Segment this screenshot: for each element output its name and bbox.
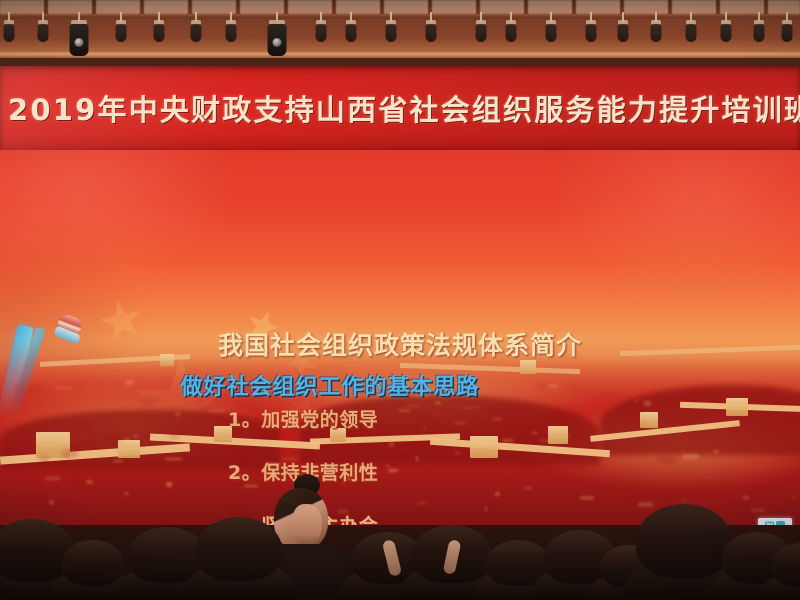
terrain-shape bbox=[170, 434, 179, 437]
terrain-shape bbox=[649, 464, 655, 467]
terrain-shape bbox=[86, 480, 92, 484]
terrain-shape bbox=[79, 425, 92, 428]
terrain-shape bbox=[642, 421, 646, 423]
light-lens bbox=[273, 38, 282, 47]
terrain-shape bbox=[122, 492, 125, 494]
terrain-shape bbox=[40, 457, 49, 462]
audience-head bbox=[62, 540, 124, 586]
terrain-shape bbox=[644, 401, 651, 406]
event-banner: 2019年中央财政支持山西省社会组织服务能力提升培训班（第一期） bbox=[0, 66, 800, 150]
terrain-shape bbox=[690, 433, 695, 436]
light-body bbox=[686, 24, 697, 42]
terrain-shape bbox=[638, 502, 653, 507]
terrain-shape bbox=[732, 425, 741, 429]
terrain-shape bbox=[33, 498, 45, 503]
terrain-shape bbox=[113, 460, 124, 462]
light-body bbox=[754, 24, 765, 42]
terrain-shape bbox=[626, 500, 634, 503]
terrain-shape bbox=[165, 458, 182, 460]
terrain-shape bbox=[18, 497, 35, 501]
terrain-shape bbox=[48, 483, 53, 484]
light-body bbox=[116, 24, 127, 42]
terrain-shape bbox=[392, 401, 407, 404]
light-body bbox=[226, 24, 237, 42]
light-body bbox=[346, 24, 357, 42]
light-body bbox=[154, 24, 165, 42]
projection-screen: 我国社会组织政策法规体系简介 做好社会组织工作的基本思路 1。加强党的领导 2。… bbox=[0, 150, 800, 525]
terrain-shape bbox=[682, 454, 699, 459]
terrain-shape bbox=[62, 451, 78, 456]
slide-subtitle: 做好社会组织工作的基本思路 bbox=[0, 369, 800, 401]
terrain-shape bbox=[71, 471, 78, 472]
light-body bbox=[426, 24, 437, 42]
terrain-shape bbox=[45, 477, 61, 480]
light-body bbox=[476, 24, 487, 42]
terrain-shape bbox=[580, 496, 593, 500]
terrain-shape bbox=[774, 452, 790, 455]
terrain-shape bbox=[166, 482, 171, 487]
list-item: 1。加强党的领导 bbox=[228, 405, 568, 432]
light-body bbox=[316, 24, 327, 42]
light-body bbox=[651, 24, 662, 42]
terrain-shape bbox=[751, 508, 765, 512]
terrain-shape bbox=[133, 434, 138, 438]
terrain-shape bbox=[587, 473, 590, 474]
terrain-shape bbox=[665, 459, 680, 463]
terrain-shape bbox=[106, 436, 124, 440]
terrain-shape bbox=[743, 496, 750, 499]
terrain-shape bbox=[118, 440, 140, 458]
light-body bbox=[191, 24, 202, 42]
light-body bbox=[782, 24, 793, 42]
light-body bbox=[721, 24, 732, 42]
slide-title: 我国社会组织政策法规体系简介 bbox=[0, 326, 800, 362]
terrain-shape bbox=[698, 483, 706, 487]
terrain-shape bbox=[124, 438, 130, 440]
terrain-shape bbox=[759, 490, 774, 493]
light-body bbox=[618, 24, 629, 42]
light-body bbox=[386, 24, 397, 42]
terrain-shape bbox=[570, 465, 586, 468]
terrain-shape bbox=[49, 500, 54, 505]
terrain-shape bbox=[68, 483, 81, 485]
light-body bbox=[4, 24, 15, 42]
terrain-shape bbox=[183, 428, 192, 430]
ceiling bbox=[0, 0, 800, 62]
conference-photo: 2019年中央财政支持山西省社会组织服务能力提升培训班（第一期） 我国社会组织政… bbox=[0, 0, 800, 600]
terrain-shape bbox=[208, 410, 226, 412]
terrain-shape bbox=[39, 491, 41, 495]
terrain-shape bbox=[66, 457, 77, 460]
light-body bbox=[38, 24, 49, 42]
audience-head bbox=[196, 517, 282, 581]
light-body bbox=[586, 24, 597, 42]
audience-head bbox=[636, 504, 732, 578]
light-body bbox=[546, 24, 557, 42]
terrain-shape bbox=[662, 494, 674, 498]
light-lens bbox=[75, 38, 84, 47]
screen-watermark-badge: 屏 bbox=[758, 518, 792, 525]
banner-title: 2019年中央财政支持山西省社会组织服务能力提升培训班（第一期） bbox=[0, 87, 800, 129]
light-body bbox=[506, 24, 517, 42]
person-face bbox=[292, 504, 322, 546]
